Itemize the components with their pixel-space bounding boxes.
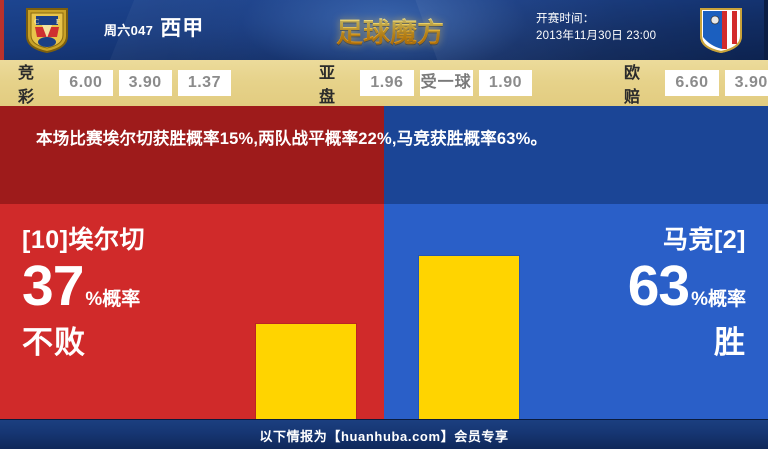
match-league: 西甲 [160, 12, 204, 42]
home-team-name: [10]埃尔切 [22, 224, 384, 256]
odds-group-european: 欧赔 6.60 3.90 1.51 [624, 59, 768, 107]
odds-bar: 竞彩 6.00 3.90 1.37 亚盘 1.96 受一球 1.90 欧赔 6.… [0, 60, 768, 106]
odds-group-title: 亚盘 [319, 59, 350, 107]
kickoff-info: 开赛时间： 2013年11月30日 23:00 [536, 11, 656, 45]
site-logo[interactable]: 足球魔方 [320, 4, 460, 56]
odds-group-jingcai: 竞彩 6.00 3.90 1.37 [18, 59, 231, 107]
header-bar: C F 周六047 西甲 足球魔方 开赛时间： 2013年11月30日 23:0… [0, 0, 768, 60]
match-label: 周六047 西甲 [104, 12, 204, 42]
header-right-accent [764, 0, 768, 60]
odds-cell-home[interactable]: 6.00 [59, 70, 112, 96]
kickoff-value: 2013年11月30日 23:00 [536, 28, 656, 45]
odds-group-title: 欧赔 [624, 59, 655, 107]
footer-bar: 以下情报为【huanhuba.com】会员专享 [0, 419, 768, 449]
away-probability-value: 63 [628, 258, 689, 315]
odds-cell-draw[interactable]: 3.90 [119, 70, 172, 96]
match-probability-infographic: C F 周六047 西甲 足球魔方 开赛时间： 2013年11月30日 23:0… [0, 0, 768, 449]
match-round: 周六047 [104, 20, 153, 39]
header-left-accent [0, 0, 4, 60]
atletico-madrid-crest-icon [698, 6, 744, 54]
home-probability-value: 37 [22, 258, 83, 315]
odds-cell-home[interactable]: 1.96 [360, 70, 413, 96]
site-logo-text: 足球魔方 [336, 11, 444, 50]
home-probability-row: 37 %概率 [22, 258, 384, 315]
svg-text:F: F [56, 18, 60, 26]
odds-cell-handicap[interactable]: 受一球 [420, 70, 473, 96]
svg-text:C: C [34, 18, 39, 26]
odds-cell-away[interactable]: 1.37 [178, 70, 231, 96]
odds-group-title: 竞彩 [18, 59, 49, 107]
probability-body: 本场比赛埃尔切获胜概率15%,两队战平概率22%,马竞获胜概率63%。 [10]… [0, 106, 768, 419]
odds-cell-draw[interactable]: 3.90 [725, 70, 768, 96]
footer-notice: 以下情报为【huanhuba.com】会员专享 [259, 426, 508, 445]
odds-cell-away[interactable]: 1.90 [479, 70, 532, 96]
home-probability-bar [256, 324, 356, 419]
odds-group-asian-handicap: 亚盘 1.96 受一球 1.90 [319, 59, 532, 107]
home-probability-unit: %概率 [85, 290, 140, 309]
away-probability-unit: %概率 [691, 290, 746, 309]
away-probability-bar [419, 256, 519, 419]
away-team-name: 马竞[2] [384, 224, 746, 256]
kickoff-label: 开赛时间： [536, 11, 656, 28]
summary-banner-text: 本场比赛埃尔切获胜概率15%,两队战平概率22%,马竞获胜概率63%。 [0, 106, 768, 154]
elche-crest-icon: C F [24, 6, 70, 54]
odds-cell-home[interactable]: 6.60 [665, 70, 718, 96]
